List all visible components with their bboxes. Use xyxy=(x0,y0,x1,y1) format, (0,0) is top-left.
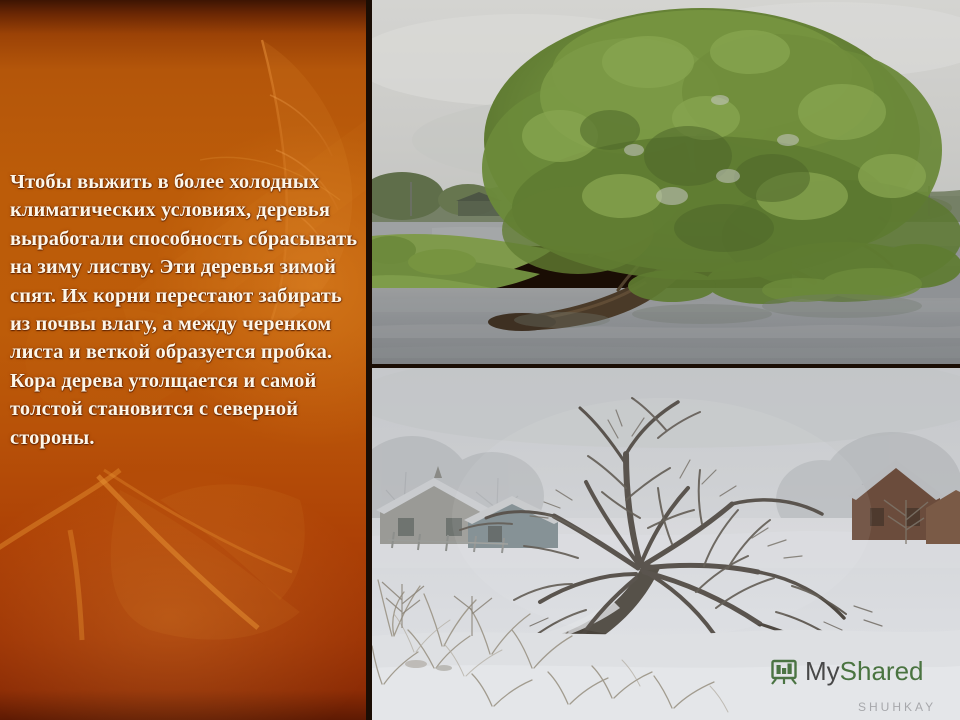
summer-tree-photo xyxy=(372,0,960,364)
watermark-prefix: My xyxy=(805,656,840,686)
myshared-logo-icon xyxy=(770,657,798,685)
slide-body-text: Чтобы выжить в более холодных климатичес… xyxy=(10,168,358,452)
photo-column: MyShared Shuhkay xyxy=(366,0,960,720)
presentation-slide: Чтобы выжить в более холодных климатичес… xyxy=(0,0,960,720)
watermark-text: MyShared xyxy=(805,658,924,684)
myshared-watermark: MyShared xyxy=(770,657,924,685)
background-glow-bottom xyxy=(0,470,366,720)
slide-text-panel: Чтобы выжить в более холодных климатичес… xyxy=(0,0,366,720)
faint-watermark-text: Shuhkay xyxy=(858,700,936,714)
watermark-suffix: Shared xyxy=(840,656,924,686)
